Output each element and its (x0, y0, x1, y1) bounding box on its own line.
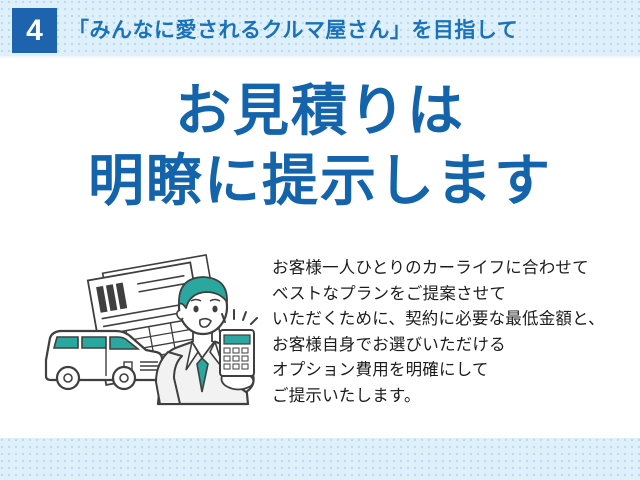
footer-band: ネクステージ (0, 438, 640, 480)
body-copy-line: ベストなプランをご提案させて (272, 282, 632, 308)
body-copy-line: いただくために、契約に必要な最低金額と、 (272, 307, 632, 333)
step-number-badge: 4 (12, 8, 57, 53)
header-band: 4 「みんなに愛されるクルマ屋さん」を目指して (0, 0, 640, 58)
body-copy-line: お客様一人ひとりのカーライフに合わせて (272, 256, 632, 282)
headline: お見積りは 明瞭に提示します (0, 82, 640, 209)
illustration (40, 252, 276, 427)
body-copy-line: お客様自身でお選びいただける (272, 333, 632, 359)
body-copy: お客様一人ひとりのカーライフに合わせて ベストなプランをご提案させて いただくた… (272, 256, 632, 409)
body-copy-line: オプション費用を明確にして (272, 358, 632, 384)
calculator (220, 330, 254, 376)
body-copy-line: ご提示いたします。 (272, 384, 632, 410)
promo-slide: 4 「みんなに愛されるクルマ屋さん」を目指して お見積りは 明瞭に提示します (0, 0, 640, 480)
headline-line-2: 明瞭に提示します (0, 152, 640, 210)
header-title: 「みんなに愛されるクルマ屋さん」を目指して (68, 14, 518, 48)
headline-line-1: お見積りは (0, 82, 640, 140)
